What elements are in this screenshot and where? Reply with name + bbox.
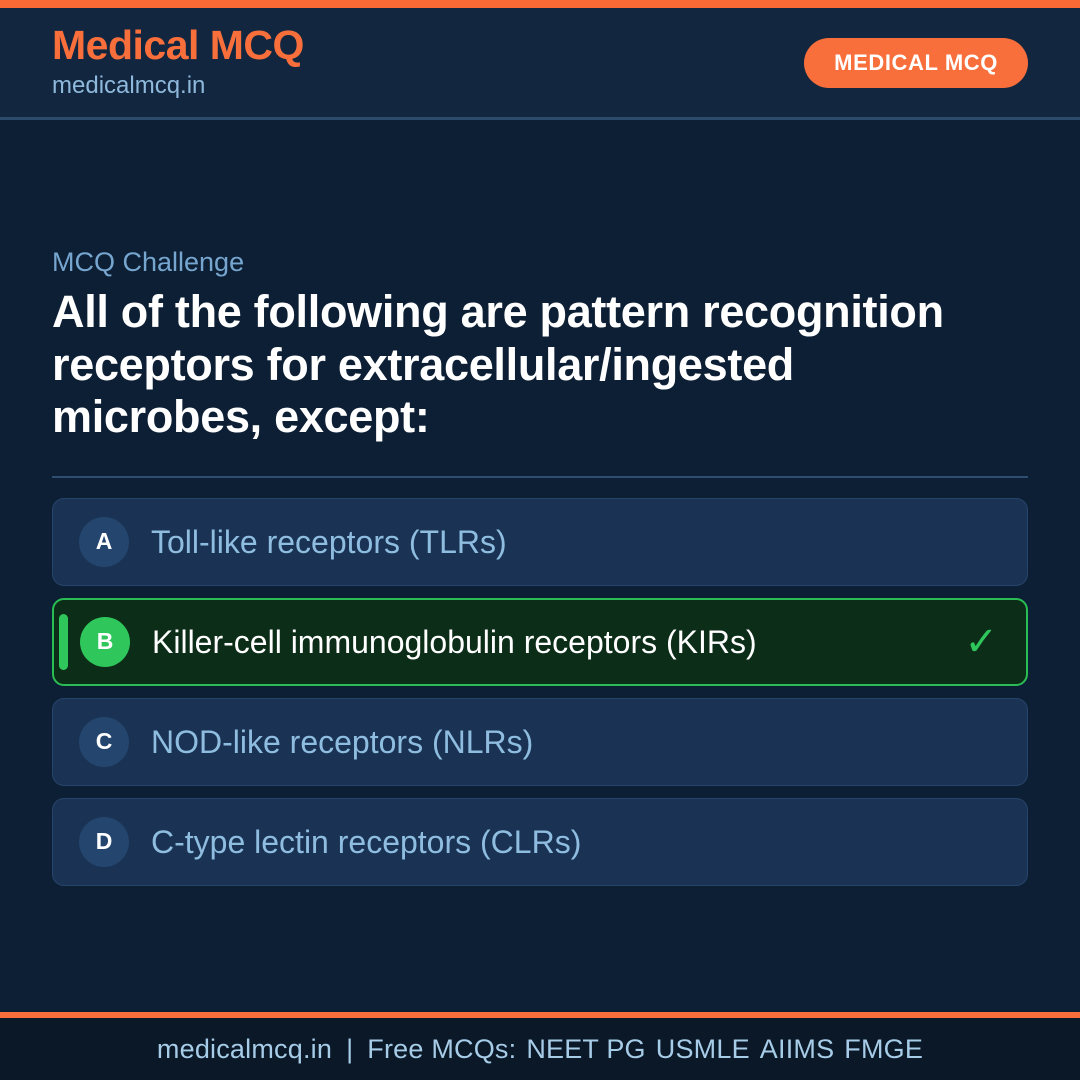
option-label: NOD-like receptors (NLRs) <box>151 723 1003 761</box>
header: Medical MCQ medicalmcq.in MEDICAL MCQ <box>0 8 1080 120</box>
question-text: All of the following are pattern recogni… <box>52 286 1012 443</box>
option-label: C-type lectin receptors (CLRs) <box>151 823 1003 861</box>
correct-accent-bar <box>59 614 68 670</box>
footer-label: Free MCQs: <box>367 1034 516 1064</box>
mcq-card: Medical MCQ medicalmcq.in MEDICAL MCQ MC… <box>0 0 1080 1080</box>
options-list: A Toll-like receptors (TLRs) ✓ B Killer-… <box>52 498 1028 886</box>
footer-exam-fmge: FMGE <box>834 1034 923 1064</box>
option-label: Killer-cell immunoglobulin receptors (KI… <box>152 623 952 661</box>
option-letter-badge: B <box>80 617 130 667</box>
section-kicker: MCQ Challenge <box>52 246 1028 278</box>
footer-text: medicalmcq.in|Free MCQs:NEET PGUSMLEAIIM… <box>157 1034 923 1065</box>
footer-exam-aiims: AIIMS <box>750 1034 835 1064</box>
option-letter-badge: D <box>79 817 129 867</box>
check-icon: ✓ <box>964 622 998 662</box>
question-divider <box>52 476 1028 478</box>
footer: medicalmcq.in|Free MCQs:NEET PGUSMLEAIIM… <box>0 1018 1080 1080</box>
option-a[interactable]: A Toll-like receptors (TLRs) ✓ <box>52 498 1028 586</box>
option-c[interactable]: C NOD-like receptors (NLRs) ✓ <box>52 698 1028 786</box>
top-accent-bar <box>0 0 1080 8</box>
option-label: Toll-like receptors (TLRs) <box>151 523 1003 561</box>
option-letter-badge: C <box>79 717 129 767</box>
footer-site: medicalmcq.in <box>157 1034 332 1064</box>
brand-title: Medical MCQ <box>52 24 304 67</box>
footer-separator: | <box>332 1034 367 1064</box>
brand: Medical MCQ medicalmcq.in <box>52 24 304 100</box>
option-b[interactable]: B Killer-cell immunoglobulin receptors (… <box>52 598 1028 686</box>
option-d[interactable]: D C-type lectin receptors (CLRs) ✓ <box>52 798 1028 886</box>
option-letter-badge: A <box>79 517 129 567</box>
footer-exam-usmle: USMLE <box>646 1034 750 1064</box>
brand-badge: MEDICAL MCQ <box>804 38 1028 88</box>
question-body: MCQ Challenge All of the following are p… <box>0 120 1080 1012</box>
footer-exam-neet: NEET PG <box>516 1034 645 1064</box>
brand-subtitle: medicalmcq.in <box>52 71 304 101</box>
